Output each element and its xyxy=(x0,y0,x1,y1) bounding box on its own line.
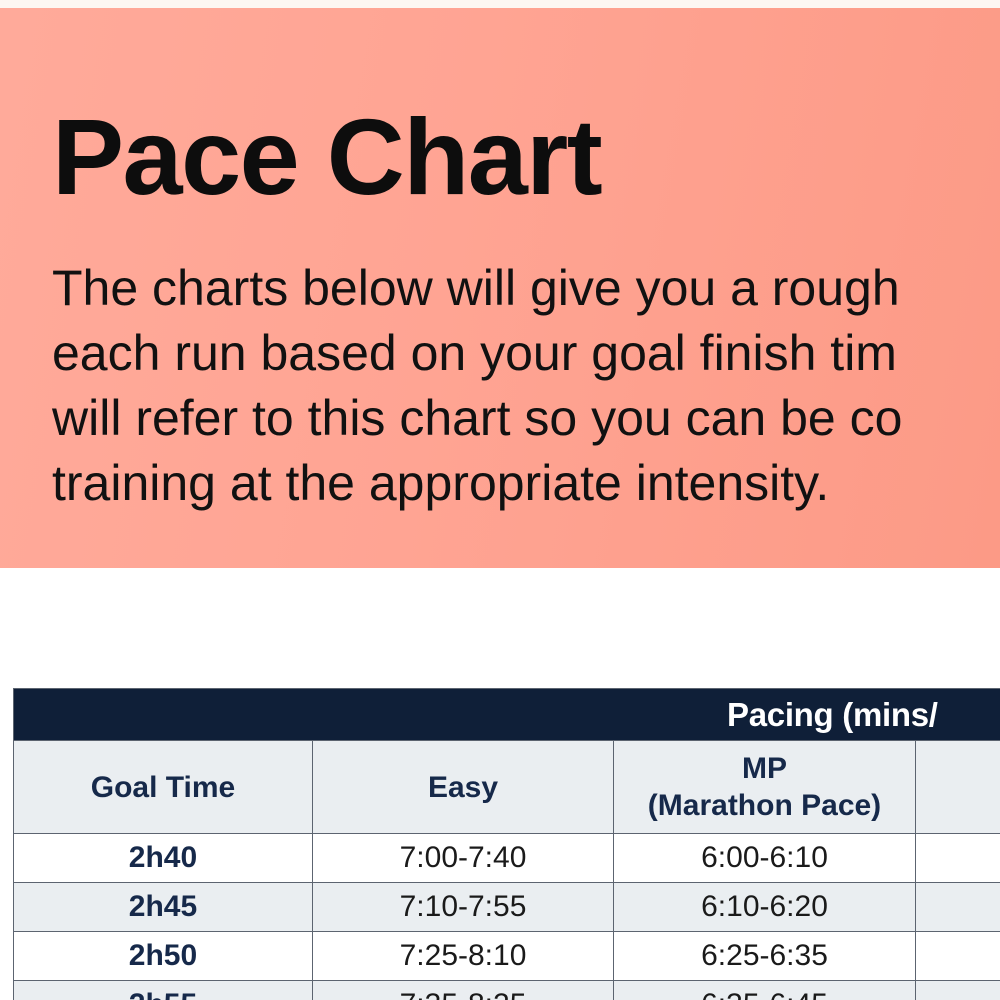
table-row[interactable]: 2h45 7:10-7:55 6:10-6:20 5 xyxy=(14,883,1000,932)
cell-next: 6 xyxy=(916,981,1000,1000)
cell-marathon-pace: 6:35-6:45 xyxy=(614,981,916,1000)
column-header-marathon-pace[interactable]: MP (Marathon Pace) xyxy=(614,741,916,834)
cell-next: 5 xyxy=(916,883,1000,932)
column-header-mp-full: (Marathon Pace) xyxy=(648,789,881,822)
page-title: Pace Chart xyxy=(52,103,601,211)
cell-marathon-pace: 6:25-6:35 xyxy=(614,932,916,981)
pace-table-container: Pacing (mins/ Goal Time Easy MP (Maratho… xyxy=(13,688,1000,1000)
table-row[interactable]: 2h50 7:25-8:10 6:25-6:35 6 xyxy=(14,932,1000,981)
hero-banner: Pace Chart The charts below will give yo… xyxy=(0,8,1000,568)
cell-goal-time: 2h55 xyxy=(14,981,313,1000)
hero-description-line-3: will refer to this chart so you can be c… xyxy=(52,386,1000,451)
pace-chart-page: Pace Chart The charts below will give yo… xyxy=(0,0,1000,1000)
hero-description-line-4: training at the appropriate intensity. xyxy=(52,451,1000,516)
hero-description-line-1: The charts below will give you a rough xyxy=(52,256,1000,321)
table-header-row: Goal Time Easy MP (Marathon Pace) xyxy=(14,741,1000,834)
column-header-mp-abbrev: MP xyxy=(742,752,787,785)
cell-marathon-pace: 6:00-6:10 xyxy=(614,834,916,883)
cell-goal-time: 2h40 xyxy=(14,834,313,883)
table-row[interactable]: 2h40 7:00-7:40 6:00-6:10 5 xyxy=(14,834,1000,883)
cell-next: 6 xyxy=(916,932,1000,981)
column-header-goal-time[interactable]: Goal Time xyxy=(14,741,313,834)
cell-easy: 7:10-7:55 xyxy=(313,883,614,932)
pace-table: Pacing (mins/ Goal Time Easy MP (Maratho… xyxy=(13,688,1000,1000)
table-banner-label: Pacing (mins/ xyxy=(14,696,1000,734)
cell-marathon-pace: 6:10-6:20 xyxy=(614,883,916,932)
hero-description: The charts below will give you a rough e… xyxy=(52,256,1000,516)
pace-table-body: 2h40 7:00-7:40 6:00-6:10 5 2h45 7:10-7:5… xyxy=(14,834,1000,1000)
cell-goal-time: 2h45 xyxy=(14,883,313,932)
column-header-next[interactable] xyxy=(916,741,1000,834)
cell-easy: 7:25-8:10 xyxy=(313,932,614,981)
cell-easy: 7:00-7:40 xyxy=(313,834,614,883)
hero-description-line-2: each run based on your goal finish tim xyxy=(52,321,1000,386)
column-header-easy[interactable]: Easy xyxy=(313,741,614,834)
cell-easy: 7:35-8:25 xyxy=(313,981,614,1000)
cell-next: 5 xyxy=(916,834,1000,883)
table-banner-cell: Pacing (mins/ xyxy=(14,689,1000,741)
top-edge-strip xyxy=(0,0,1000,8)
table-banner-row: Pacing (mins/ xyxy=(14,689,1000,741)
cell-goal-time: 2h50 xyxy=(14,932,313,981)
table-row[interactable]: 2h55 7:35-8:25 6:35-6:45 6 xyxy=(14,981,1000,1000)
